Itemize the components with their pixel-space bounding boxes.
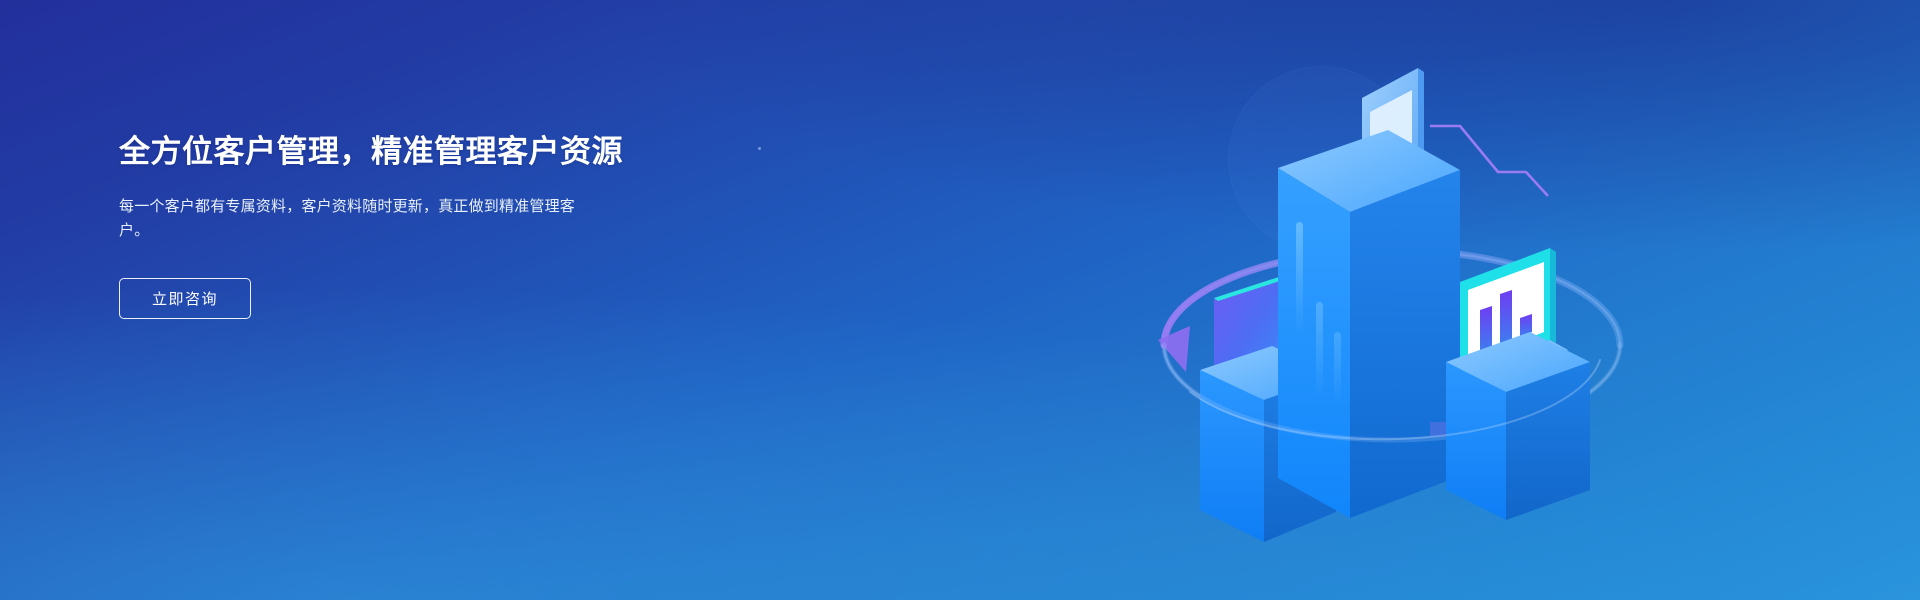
pillar-center [1278, 130, 1460, 518]
hero-subtext: 每一个客户都有专属资料，客户资料随时更新，真正做到精准管理客户。 [119, 195, 599, 244]
hero-copy-block: 全方位客户管理，精准管理客户资源 每一个客户都有专属资料，客户资料随时更新，真正… [119, 133, 679, 319]
hero-banner: 全方位客户管理，精准管理客户资源 每一个客户都有专属资料，客户资料随时更新，真正… [0, 0, 1920, 600]
pillar-center-with-tablet [1278, 68, 1460, 518]
hero-illustration [1130, 40, 1650, 560]
background-dot-decoration [758, 147, 761, 150]
pillar-right [1446, 332, 1590, 520]
page-title: 全方位客户管理，精准管理客户资源 [119, 133, 679, 172]
consult-now-button[interactable]: 立即咨询 [119, 278, 251, 319]
